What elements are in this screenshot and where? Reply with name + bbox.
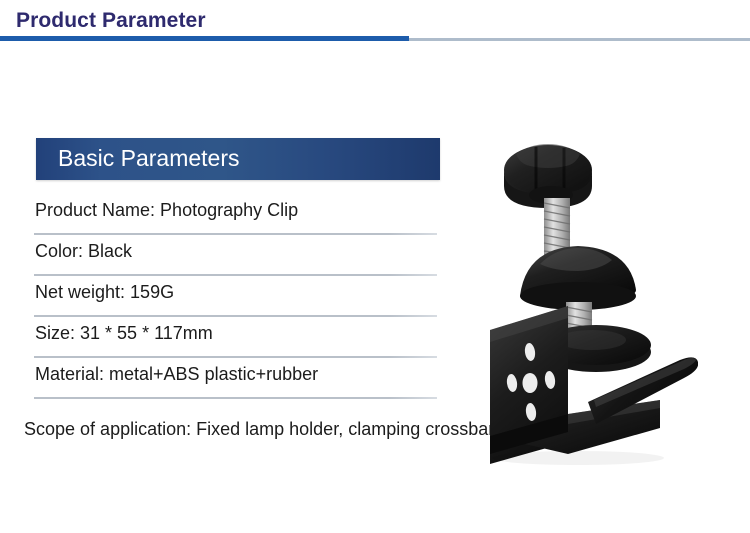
page-header: Product Parameter [0,0,750,44]
photography-clamp-photo [468,140,698,470]
row-divider [34,233,437,235]
parameter-net-weight: Net weight: 159G [35,282,174,303]
page-title: Product Parameter [16,9,206,33]
basic-parameters-banner-label: Basic Parameters [58,145,240,172]
parameter-material: Material: metal+ABS plastic+rubber [35,364,318,385]
basic-parameters-banner: Basic Parameters [36,138,440,180]
header-rule-accent [0,36,409,41]
row-divider [34,356,437,358]
clamp-dome-shape [520,246,636,310]
content-area: Basic Parameters Product Name: Photograp… [0,44,750,533]
scope-of-application-text: Scope of application: Fixed lamp holder,… [24,419,494,440]
row-divider [34,397,437,399]
parameter-product-name: Product Name: Photography Clip [35,200,298,221]
row-divider [34,315,437,317]
parameter-color: Color: Black [35,241,132,262]
row-divider [34,274,437,276]
parameter-size: Size: 31 * 55 * 117mm [35,323,213,344]
